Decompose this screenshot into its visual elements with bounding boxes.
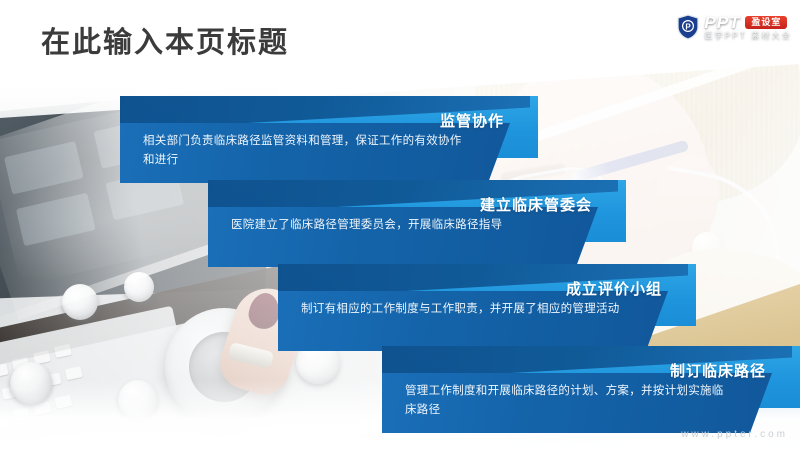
site-watermark: www.ppter.com xyxy=(681,429,788,440)
process-bar-body-text: 相关部门负责临床路径监管资料和管理，保证工作的有效协作和进行 xyxy=(143,132,470,170)
process-bar-title: 成立评价小组 xyxy=(566,278,662,299)
shield-icon: P xyxy=(677,14,699,40)
slide-canvas: 在此输入本页标题 P PPT 盈设室 医学PPT 素材大全 相关部门负责临床路径… xyxy=(0,0,800,450)
logo-brand-text: PPT xyxy=(704,14,740,31)
process-bar-title: 制订临床路径 xyxy=(670,360,766,381)
process-bar-title: 监管协作 xyxy=(440,110,504,131)
process-bar-text-panel: 相关部门负责临床路径监管资料和管理，保证工作的有效协作和进行 xyxy=(120,123,510,183)
process-bar-list: 相关部门负责临床路径监管资料和管理，保证工作的有效协作和进行监管协作医院建立了临… xyxy=(0,0,800,450)
logo-text-block: PPT 盈设室 医学PPT 素材大全 xyxy=(704,14,792,40)
process-bar-body-text: 医院建立了临床路径管理委员会，开展临床路径指导 xyxy=(231,216,558,235)
svg-text:P: P xyxy=(686,23,692,32)
logo-subtitle: 医学PPT 素材大全 xyxy=(704,32,792,40)
process-bar-text-panel: 制订有相应的工作制度与工作职责，并开展了相应的管理活动 xyxy=(278,291,668,351)
process-bar-title: 建立临床管委会 xyxy=(480,194,592,215)
brand-logo[interactable]: P PPT 盈设室 医学PPT 素材大全 xyxy=(677,10,792,44)
process-bar-text-panel: 管理工作制度和开展临床路径的计划、方案，并按计划实施临床路径 xyxy=(382,373,772,433)
process-bar-body-text: 制订有相应的工作制度与工作职责，并开展了相应的管理活动 xyxy=(301,300,628,319)
logo-badge: 盈设室 xyxy=(745,16,787,29)
page-title: 在此输入本页标题 xyxy=(41,19,289,61)
process-bar-body-text: 管理工作制度和开展临床路径的计划、方案，并按计划实施临床路径 xyxy=(405,382,732,420)
process-bar-text-panel: 医院建立了临床路径管理委员会，开展临床路径指导 xyxy=(208,207,598,267)
